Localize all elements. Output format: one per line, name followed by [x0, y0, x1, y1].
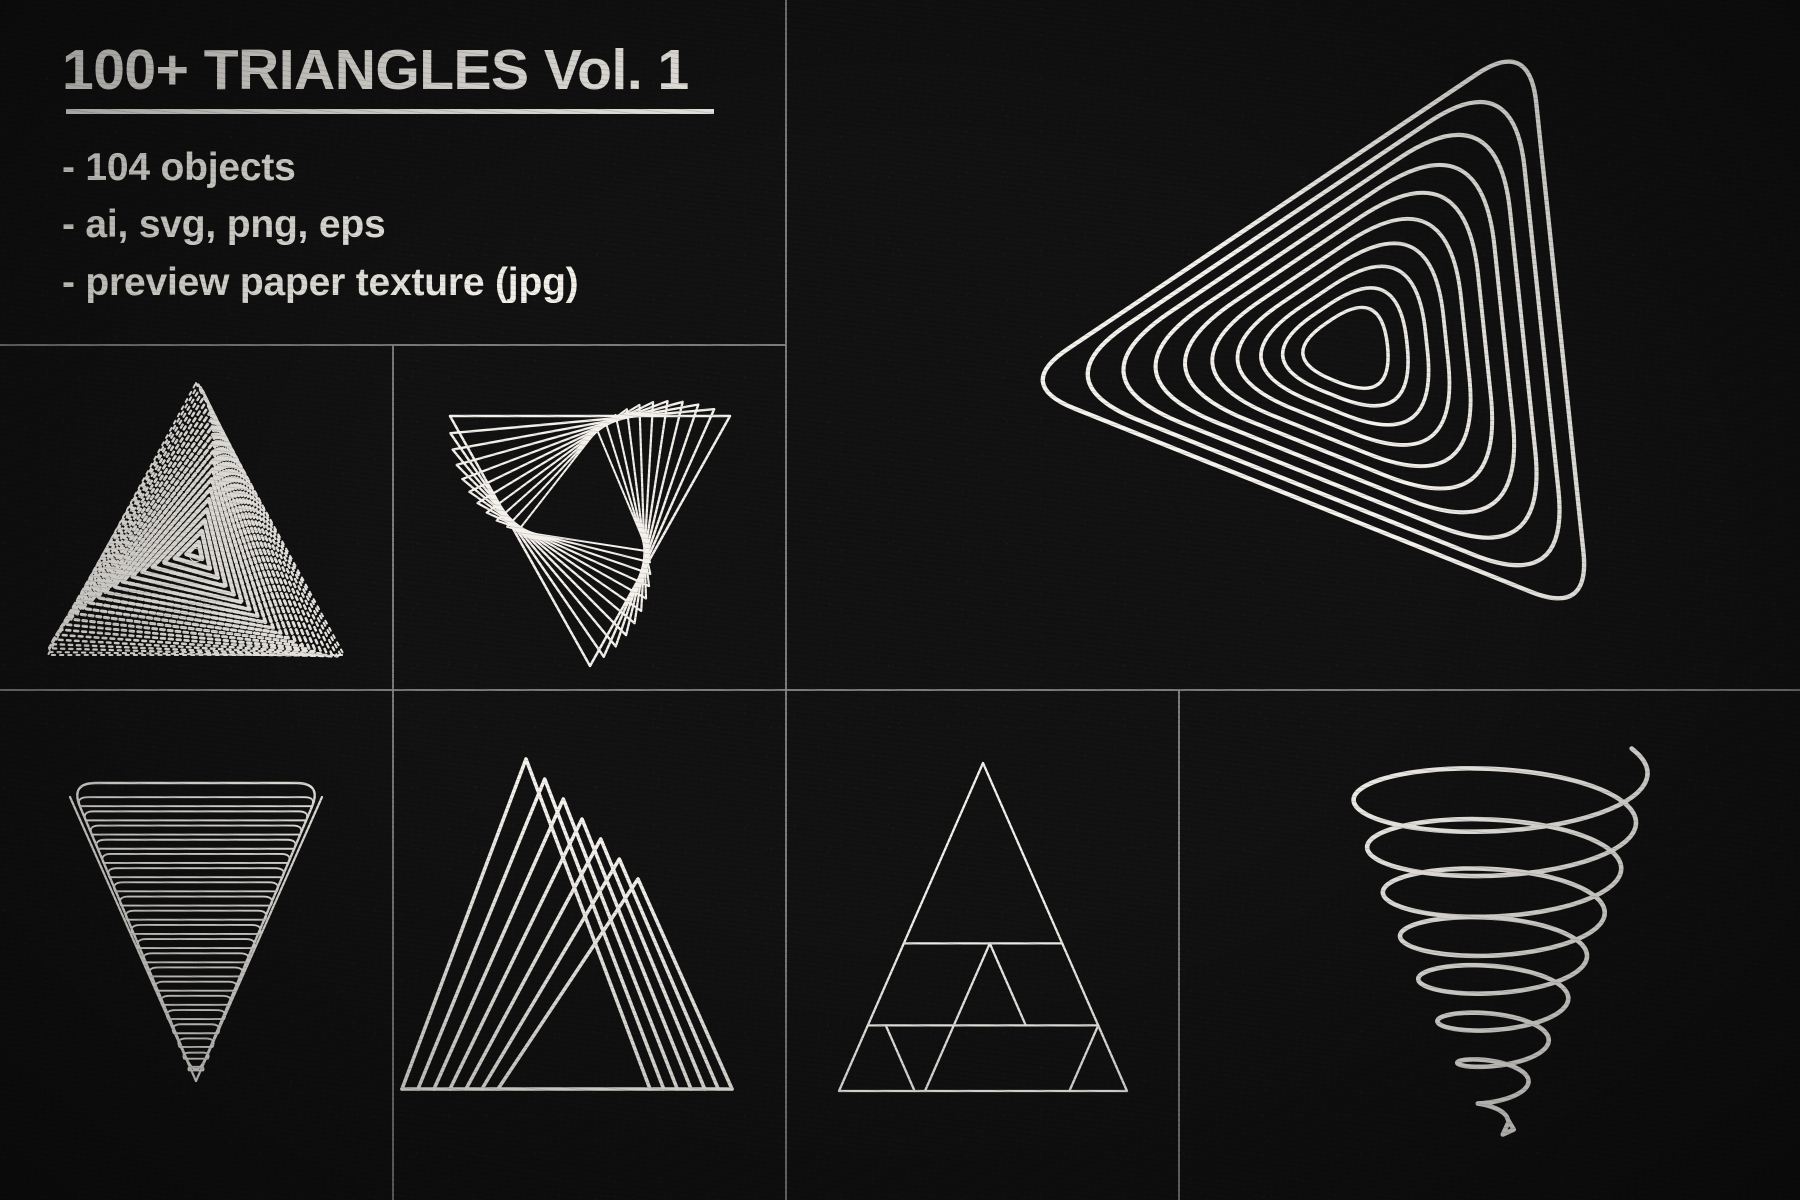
figure-cell-tornado-spiral: [1180, 691, 1800, 1200]
feature-bullet-formats: - ai, svg, png, eps: [62, 197, 785, 252]
page-title: 100+ TRIANGLES Vol. 1: [62, 42, 785, 99]
subdivided-triangle-svg: [787, 691, 1178, 1200]
dotted-triangle-svg: [0, 346, 392, 689]
hero-rounded-triangle-svg: [787, 0, 1800, 689]
striped-cone-svg: [0, 691, 392, 1200]
tornado-spiral-svg: [1180, 691, 1800, 1200]
figure-cell-dotted-triangle: [0, 346, 392, 689]
title-underline: [66, 109, 714, 114]
hex-void-triangle-svg: [394, 346, 785, 689]
chevron-stack-svg: [394, 691, 785, 1200]
figure-cell-hero-rounded-triangle: [787, 0, 1800, 689]
figure-cell-chevron-stack: [394, 691, 785, 1200]
figure-cell-striped-cone: [0, 691, 392, 1200]
figure-cell-subdivided-triangle: [787, 691, 1178, 1200]
poster-canvas: 100+ TRIANGLES Vol. 1 - 104 objects - ai…: [0, 0, 1800, 1200]
feature-bullet-objects: - 104 objects: [62, 140, 785, 195]
feature-bullet-preview: - preview paper texture (jpg): [62, 255, 785, 310]
text-panel: 100+ TRIANGLES Vol. 1 - 104 objects - ai…: [0, 0, 785, 345]
figure-cell-hex-void-triangle: [394, 346, 785, 689]
